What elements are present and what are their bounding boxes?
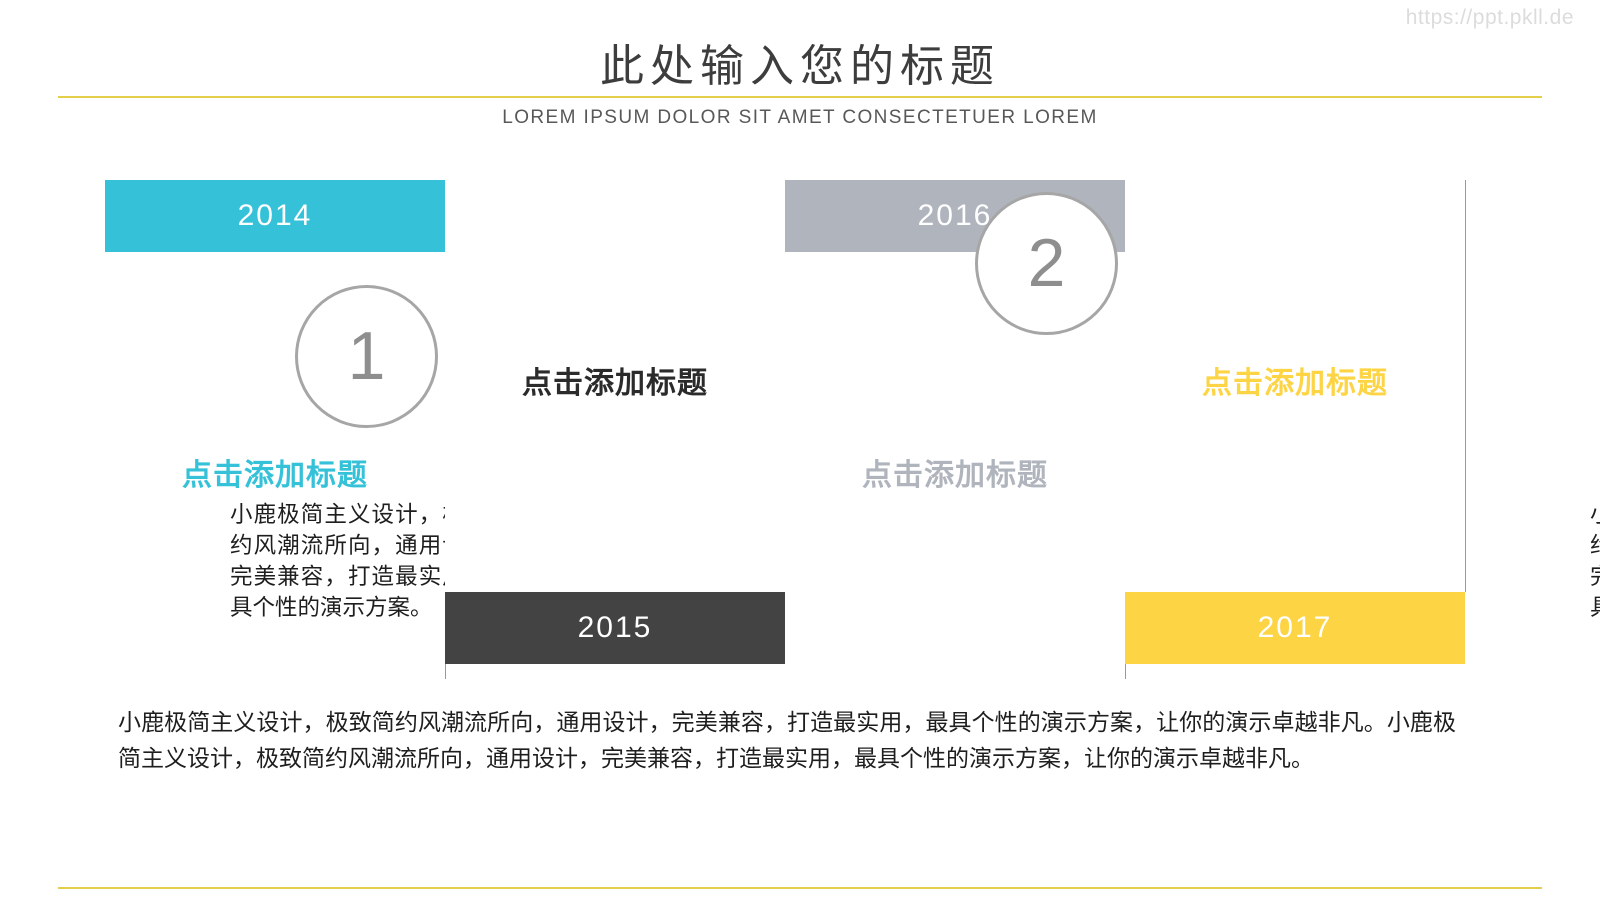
card-year-band: 2017 — [1125, 592, 1465, 664]
card-year-band: 2014 — [105, 180, 445, 252]
timeline-cards: 2014 1 点击添加标题 小鹿极简主义设计，极致简约风潮流所向，通用设计，完美… — [0, 0, 1600, 700]
card-number-circle: 1 — [295, 285, 438, 428]
footer-paragraph[interactable]: 小鹿极简主义设计，极致简约风潮流所向，通用设计，完美兼容，打造最实用，最具个性的… — [118, 705, 1456, 777]
card-heading[interactable]: 点击添加标题 — [1125, 358, 1465, 402]
card-heading[interactable]: 点击添加标题 — [785, 450, 1125, 494]
card-heading[interactable]: 点击添加标题 — [445, 358, 785, 402]
card-number-circle: 2 — [975, 192, 1118, 335]
card-heading[interactable]: 点击添加标题 — [105, 450, 445, 494]
card-body-text[interactable]: 小鹿极简主义设计，极致简约风潮流所向，通用设计，完美兼容，打造最实用，最具个性的… — [1590, 500, 1600, 624]
card-year-band: 2015 — [445, 592, 785, 664]
bottom-divider — [58, 887, 1542, 889]
